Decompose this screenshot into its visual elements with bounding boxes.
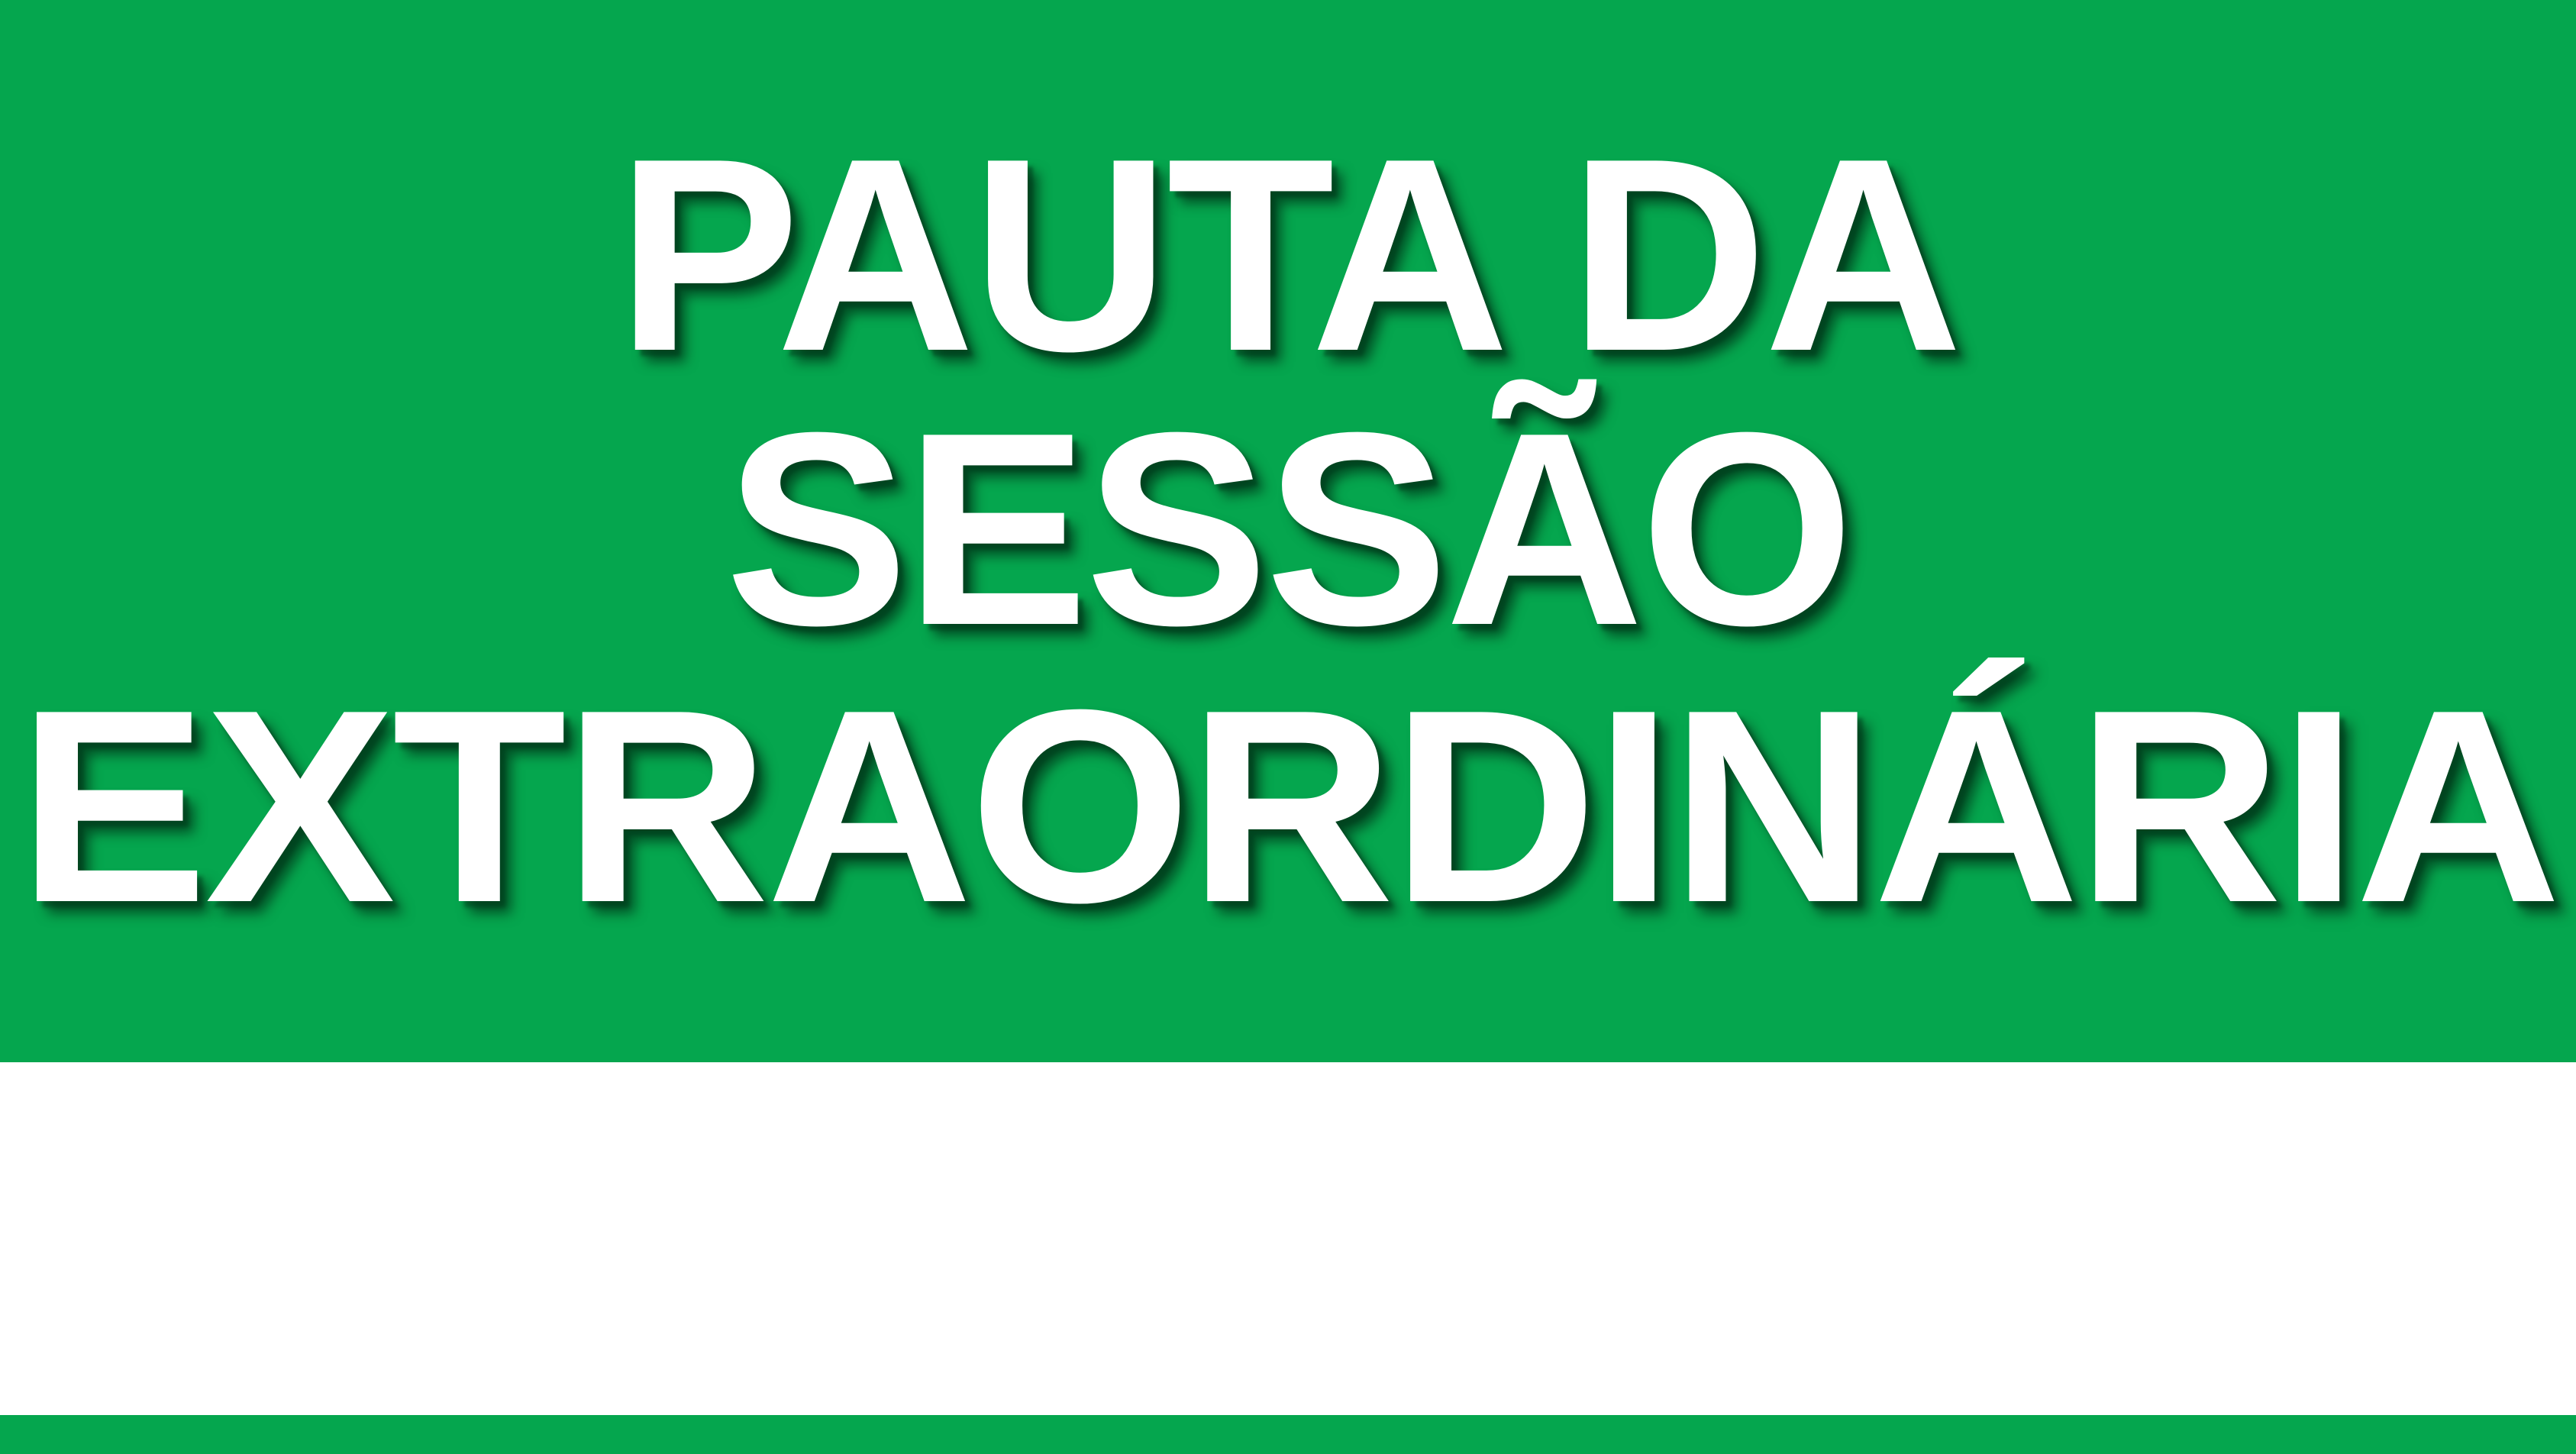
poster-canvas: PAUTA DA SESSÃO EXTRAORDINÁRIA /camarafo…	[0, 0, 2576, 1454]
hero-banner: PAUTA DA SESSÃO EXTRAORDINÁRIA	[0, 0, 2576, 1062]
bottom-accent-strip	[0, 1415, 2576, 1454]
title-line-2: SESSÃO	[725, 395, 1851, 664]
footer-bar: /camaraformosa /camarafsa You Tube	[0, 1062, 2576, 1415]
page-title: PAUTA DA SESSÃO EXTRAORDINÁRIA	[0, 0, 2576, 1062]
title-line-3: EXTRAORDINÁRIA	[18, 672, 2558, 942]
title-line-1: PAUTA DA	[617, 121, 1960, 390]
